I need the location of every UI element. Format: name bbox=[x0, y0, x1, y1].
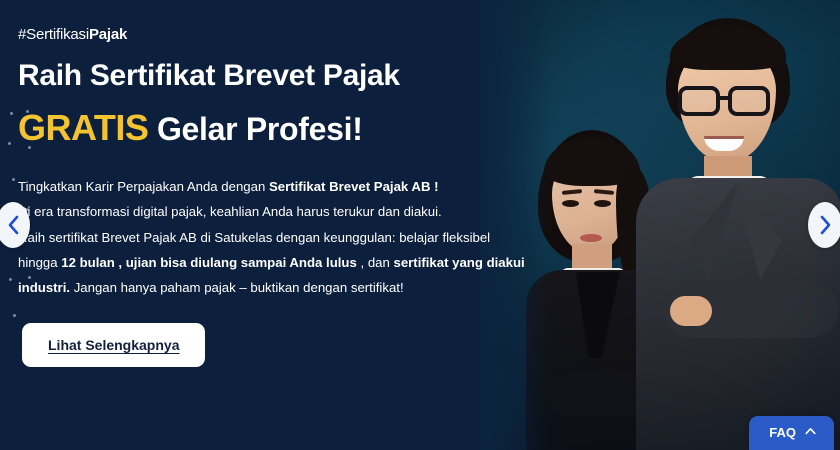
hero-heading-primary: Raih Sertifikat Brevet Pajak bbox=[18, 59, 600, 92]
heading-secondary-rest: Gelar Profesi! bbox=[157, 111, 363, 147]
carousel-next-button[interactable] bbox=[808, 202, 840, 248]
hero-heading-secondary: GRATIS Gelar Profesi! bbox=[18, 108, 600, 148]
hero-content: #SertifikasiPajak Raih Sertifikat Brevet… bbox=[0, 0, 600, 450]
paragraph-line3-a: Raih sertifikat Brevet Pajak AB di Satuk… bbox=[18, 230, 490, 245]
paragraph-line5-a: industri. bbox=[18, 280, 70, 295]
hero-banner-carousel: #SertifikasiPajak Raih Sertifikat Brevet… bbox=[0, 0, 840, 450]
paragraph-line4-b: 12 bulan , ujian bisa diulang sampai And… bbox=[61, 255, 357, 270]
paragraph-line2: Di era transformasi digital pajak, keahl… bbox=[18, 204, 442, 219]
faq-widget-button[interactable]: FAQ bbox=[749, 416, 834, 450]
paragraph-line1-a: Tingkatkan Karir Perpajakan Anda dengan bbox=[18, 179, 269, 194]
paragraph-line4-a: hingga bbox=[18, 255, 61, 270]
paragraph-line5-b: Jangan hanya paham pajak – buktikan deng… bbox=[70, 280, 404, 295]
hashtag-label: #SertifikasiPajak bbox=[18, 26, 600, 43]
eyeglasses-icon bbox=[678, 86, 778, 116]
faq-label: FAQ bbox=[769, 425, 796, 440]
paragraph-line4-d: sertifikat yang diakui bbox=[394, 255, 525, 270]
chevron-up-icon bbox=[805, 427, 816, 438]
hashtag-bold: Pajak bbox=[89, 26, 127, 43]
paragraph-line4-c: , dan bbox=[357, 255, 394, 270]
hero-paragraph: Tingkatkan Karir Perpajakan Anda dengan … bbox=[18, 174, 583, 301]
chevron-left-icon bbox=[7, 215, 20, 235]
heading-highlight-gratis: GRATIS bbox=[18, 107, 148, 148]
hashtag-prefix: #Sertifikasi bbox=[18, 26, 89, 43]
paragraph-line1-b: Sertifikat Brevet Pajak AB ! bbox=[269, 179, 439, 194]
lihat-selengkapnya-button[interactable]: Lihat Selengkapnya bbox=[22, 323, 205, 367]
chevron-right-icon bbox=[819, 215, 832, 235]
